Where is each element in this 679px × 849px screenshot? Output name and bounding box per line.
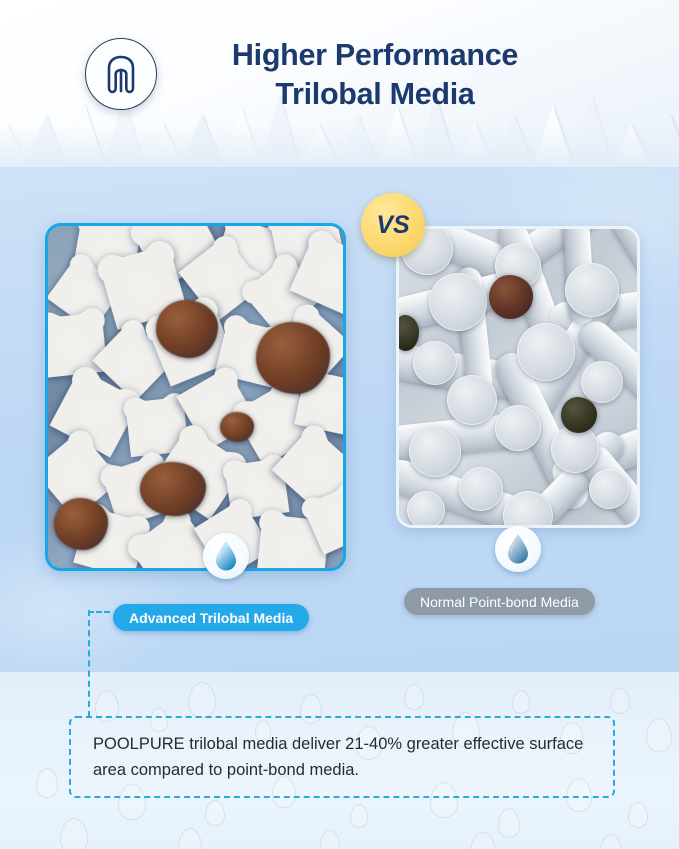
trilobal-fiber-cross-section [45,312,108,378]
water-droplet-watermark [350,804,368,828]
vs-label: VS [376,211,409,240]
advanced-trilobal-media-panel[interactable] [45,223,346,571]
water-droplet-watermark [610,688,630,714]
water-droplet-watermark [498,808,520,838]
point-bond-media-micrograph [399,229,637,525]
water-droplet-watermark [36,768,58,798]
trilobal-media-micrograph [48,226,343,568]
fiber-end-cap [413,341,457,385]
label-normal-point-bond-media: Normal Point-bond Media [404,588,595,615]
fiber-end-cap [517,323,575,381]
loose-dirt-particle [561,397,597,433]
water-drop-icon [213,540,239,572]
fiber-end-cap [447,375,497,425]
callout-connector-line [88,610,90,717]
fiber-end-cap [459,467,503,511]
fiber-end-cap [495,405,541,451]
fiber-end-cap [429,273,487,331]
header-banner: Higher Performance Trilobal Media [0,0,679,167]
trapped-dirt-particle [140,462,206,516]
brand-logo-badge [85,38,157,110]
label-text: Normal Point-bond Media [420,594,579,610]
water-droplet-watermark [470,832,496,849]
title-line-1: Higher Performance [170,36,580,75]
vs-badge: VS [361,193,425,257]
water-droplet-watermark [600,834,622,849]
water-droplet-watermark [178,828,202,849]
label-text: Advanced Trilobal Media [129,610,293,626]
water-droplet-watermark [205,800,225,826]
fiber-end-cap [581,361,623,403]
water-drop-badge-right [495,526,541,572]
water-droplet-watermark [188,682,216,718]
normal-point-bond-media-panel[interactable] [396,226,640,528]
page-title: Higher Performance Trilobal Media [170,36,580,114]
water-drop-badge-left [203,533,249,579]
title-line-2: Trilobal Media [170,75,580,114]
product-infographic: Higher Performance Trilobal Media VS [0,0,679,849]
label-advanced-trilobal-media: Advanced Trilobal Media [113,604,309,631]
trapped-dirt-particle [156,300,218,358]
water-droplet-watermark [60,818,88,849]
water-drop-icon [505,533,531,565]
claim-text: POOLPURE trilobal media deliver 21-40% g… [93,735,583,779]
fiber-end-cap [407,491,445,528]
water-droplet-watermark [628,802,648,828]
header-bottom-fade [0,125,679,167]
trapped-dirt-particle [256,322,330,394]
trilobal-fiber-logo-icon [102,54,140,94]
callout-connector-stub [88,611,110,613]
trapped-dirt-particle [220,412,254,442]
fiber-end-cap [409,425,461,477]
water-droplet-watermark [646,718,672,752]
claim-callout-box: POOLPURE trilobal media deliver 21-40% g… [69,716,615,798]
fiber-end-cap [589,469,629,509]
trapped-dirt-particle [54,498,108,550]
water-droplet-watermark [320,830,340,849]
water-droplet-watermark [512,690,530,714]
fiber-end-cap [565,263,619,317]
water-droplet-watermark [404,684,424,710]
